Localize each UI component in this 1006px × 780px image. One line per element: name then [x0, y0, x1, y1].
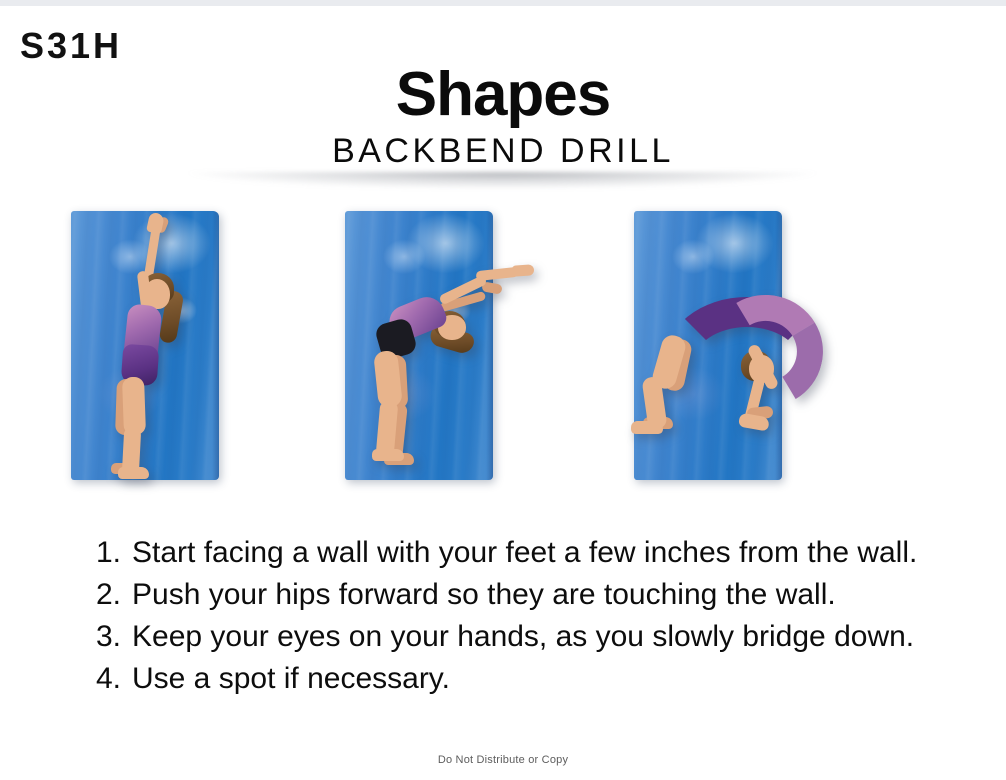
instruction-step-4: 4. Use a spot if necessary.: [96, 658, 966, 700]
step-text: Use a spot if necessary.: [132, 658, 966, 700]
photo-sequence-strip: [0, 205, 1006, 495]
gymnast-foot: [372, 449, 404, 461]
wall-edge-shading: [486, 211, 493, 480]
header-divider-shadow: [95, 172, 910, 194]
instruction-step-1: 1. Start facing a wall with your feet a …: [96, 532, 966, 574]
step-text: Keep your eyes on your hands, as you slo…: [132, 616, 966, 658]
step-1-photo: [60, 205, 360, 495]
title-block: Shapes BACKBEND DRILL: [0, 62, 1006, 171]
gymnast-foot: [118, 467, 149, 479]
gymnast-foot: [631, 421, 663, 434]
step-number: 4.: [96, 658, 132, 700]
instruction-step-3: 3. Keep your eyes on your hands, as you …: [96, 616, 966, 658]
step-2-photo: [334, 205, 634, 495]
instruction-list: 1. Start facing a wall with your feet a …: [96, 532, 966, 700]
step-number: 1.: [96, 532, 132, 574]
step-3-photo: [623, 205, 923, 495]
page-title: Shapes: [0, 62, 1006, 128]
wall-edge-shading: [212, 211, 219, 480]
step-number: 2.: [96, 574, 132, 616]
page-subtitle: BACKBEND DRILL: [0, 132, 1006, 171]
step-text: Start facing a wall with your feet a few…: [132, 532, 966, 574]
instruction-step-2: 2. Push your hips forward so they are to…: [96, 574, 966, 616]
step-number: 3.: [96, 616, 132, 658]
step-text: Push your hips forward so they are touch…: [132, 574, 966, 616]
copyright-notice: Do Not Distribute or Copy: [0, 754, 1006, 766]
skill-code: S31H: [20, 28, 122, 64]
gymnast-hand: [512, 264, 535, 277]
slide-top-edge-band: [0, 0, 1006, 6]
